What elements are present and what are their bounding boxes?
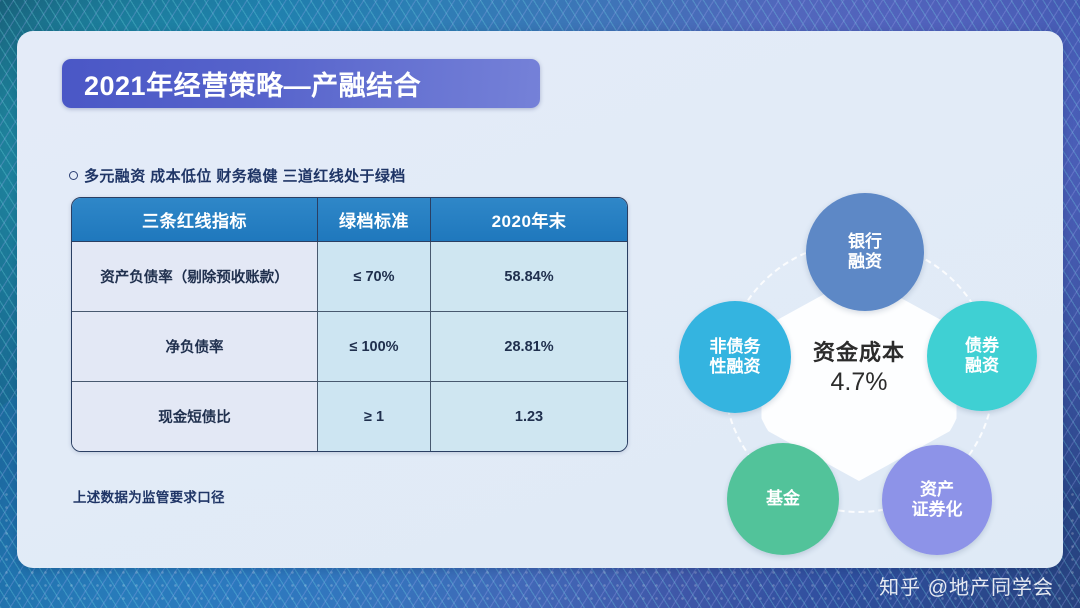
page-title: 2021年经营策略—产融结合 [62,64,421,103]
cell-standard: ≤ 100% [318,312,431,382]
column-header-indicator: 三条红线指标 [72,198,318,242]
metrics-table-container: 三条红线指标 绿档标准 2020年末 资产负债率（剔除预收账款） ≤ 70% 5… [71,197,628,452]
cell-standard: ≤ 70% [318,242,431,312]
bubble-bank-financing: 银行 融资 [806,193,924,311]
financing-circle-diagram: 银行 融资 债券 融资 非债务 性融资 基金 资产 证券化 资金成本 4.7% [665,193,1063,565]
bubble-asset-securitization: 资产 证券化 [882,445,992,555]
cell-value: 58.84% [431,242,628,312]
diagram-center-label: 资金成本 4.7% [753,335,965,397]
funding-cost-value: 4.7% [753,368,965,397]
bubble-abs-line2: 证券化 [912,500,963,520]
cell-value: 28.81% [431,312,628,382]
bubble-bank-line2: 融资 [848,252,882,272]
table-row: 资产负债率（剔除预收账款） ≤ 70% 58.84% [72,242,627,312]
column-header-value: 2020年末 [431,198,628,242]
funding-cost-title: 资金成本 [753,335,965,367]
subtitle-row: 多元融资 成本低位 财务稳健 三道红线处于绿档 [69,165,406,186]
cell-indicator-name: 净负债率 [72,312,318,382]
cell-standard: ≥ 1 [318,382,431,452]
metrics-table: 三条红线指标 绿档标准 2020年末 资产负债率（剔除预收账款） ≤ 70% 5… [72,198,627,451]
watermark: 知乎 @地产同学会 [879,571,1054,600]
table-row: 净负债率 ≤ 100% 28.81% [72,312,627,382]
table-footnote: 上述数据为监管要求口径 [73,486,225,506]
slide-card: 2021年经营策略—产融结合 多元融资 成本低位 财务稳健 三道红线处于绿档 三… [17,31,1063,568]
bullet-circle-icon [69,171,78,180]
cell-indicator-name: 资产负债率（剔除预收账款） [72,242,318,312]
bubble-bank-line1: 银行 [848,232,882,252]
subtitle-text: 多元融资 成本低位 财务稳健 三道红线处于绿档 [84,165,406,186]
bubble-fund-line1: 基金 [766,489,800,509]
slide-root: 2021年经营策略—产融结合 多元融资 成本低位 财务稳健 三道红线处于绿档 三… [0,0,1080,608]
table-row: 现金短债比 ≥ 1 1.23 [72,382,627,452]
bubble-fund: 基金 [727,443,839,555]
bubble-abs-line1: 资产 [920,480,954,500]
table-header-row: 三条红线指标 绿档标准 2020年末 [72,198,627,242]
cell-value: 1.23 [431,382,628,452]
column-header-standard: 绿档标准 [318,198,431,242]
title-banner: 2021年经营策略—产融结合 [62,59,540,108]
bubble-bond-line1: 债券 [965,336,999,356]
cell-indicator-name: 现金短债比 [72,382,318,452]
bubble-bond-line2: 融资 [965,356,999,376]
